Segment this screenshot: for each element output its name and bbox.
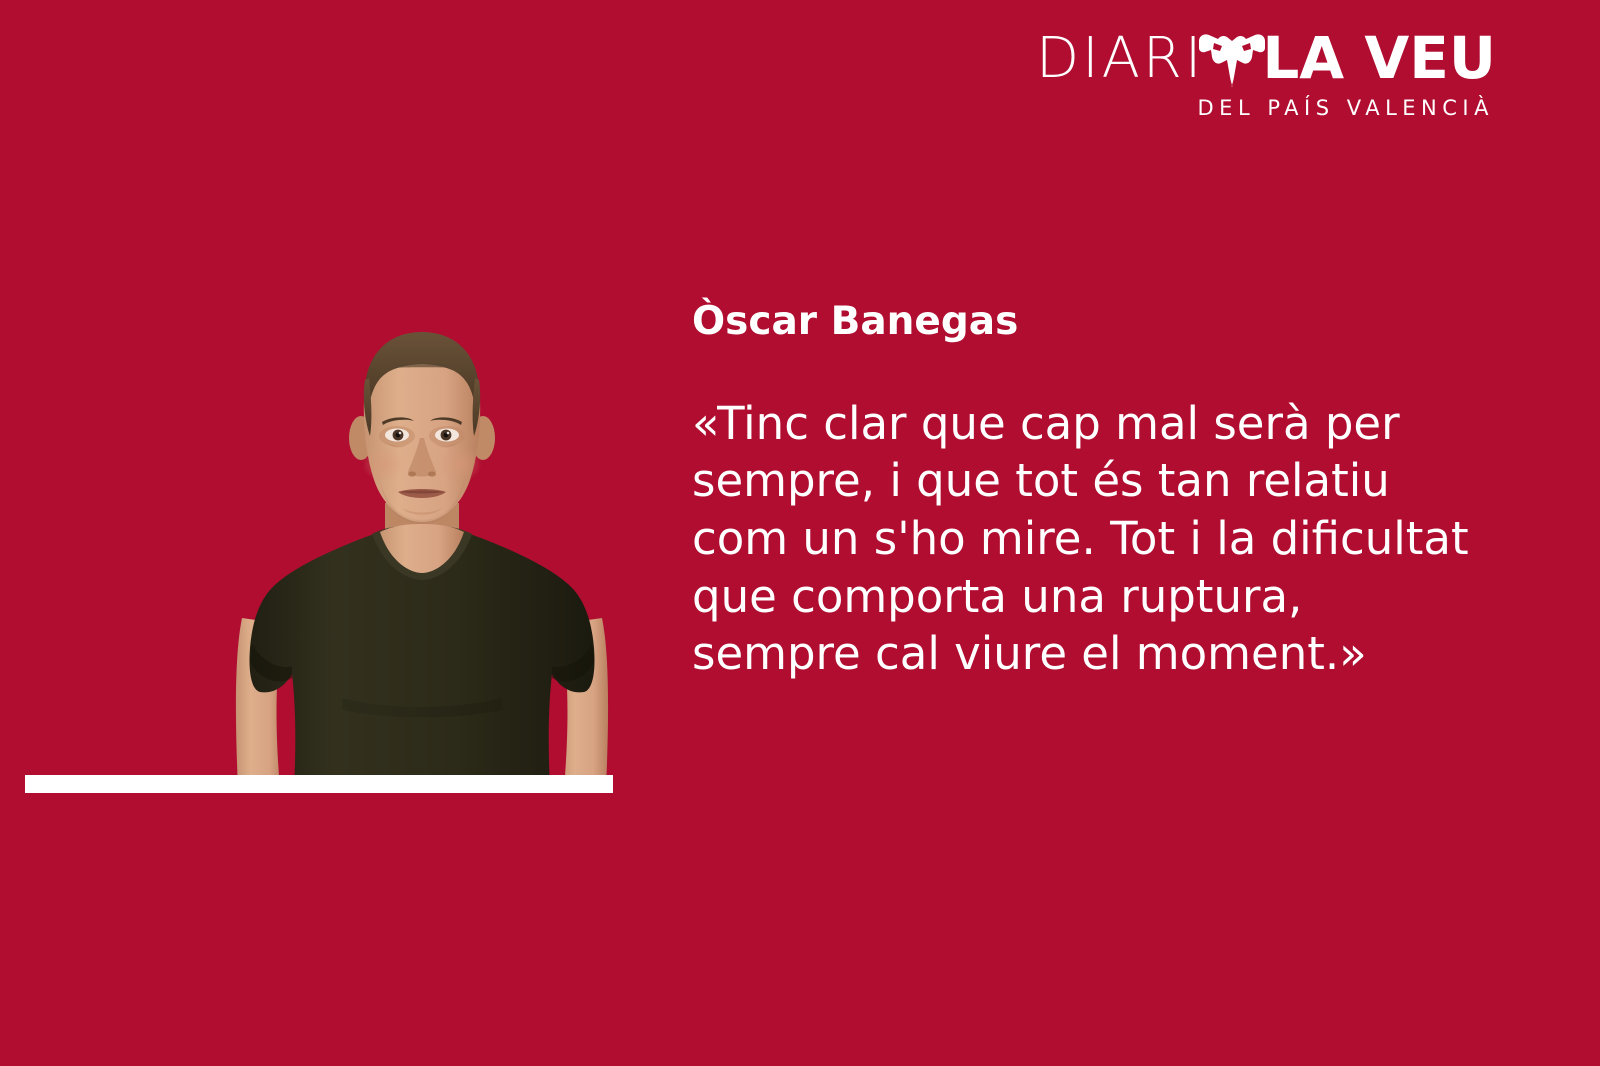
quote-body: «Tinc clar que cap mal serà per sempre, … (692, 395, 1482, 683)
speaker-name: Òscar Banegas (692, 300, 1492, 345)
white-divider-bar (25, 775, 613, 793)
quote-text-block: Òscar Banegas «Tinc clar que cap mal ser… (692, 300, 1492, 683)
diari-la-veu-logo[interactable]: DIARI LA VEU DEL PAÍS VALENCIÀ (996, 26, 1496, 131)
bat-bird-v-icon (1196, 31, 1268, 89)
logo-word-diari: DIARI (1036, 31, 1204, 87)
portrait-photo (222, 318, 622, 788)
logo-tagline: DEL PAÍS VALENCIÀ (996, 98, 1496, 119)
logo-word-la-veu: LA VEU (1262, 29, 1496, 87)
quote-card: DIARI LA VEU DEL PAÍS VALENCIÀ (0, 0, 1600, 1066)
logo-wordmark: DIARI LA VEU (996, 26, 1496, 90)
